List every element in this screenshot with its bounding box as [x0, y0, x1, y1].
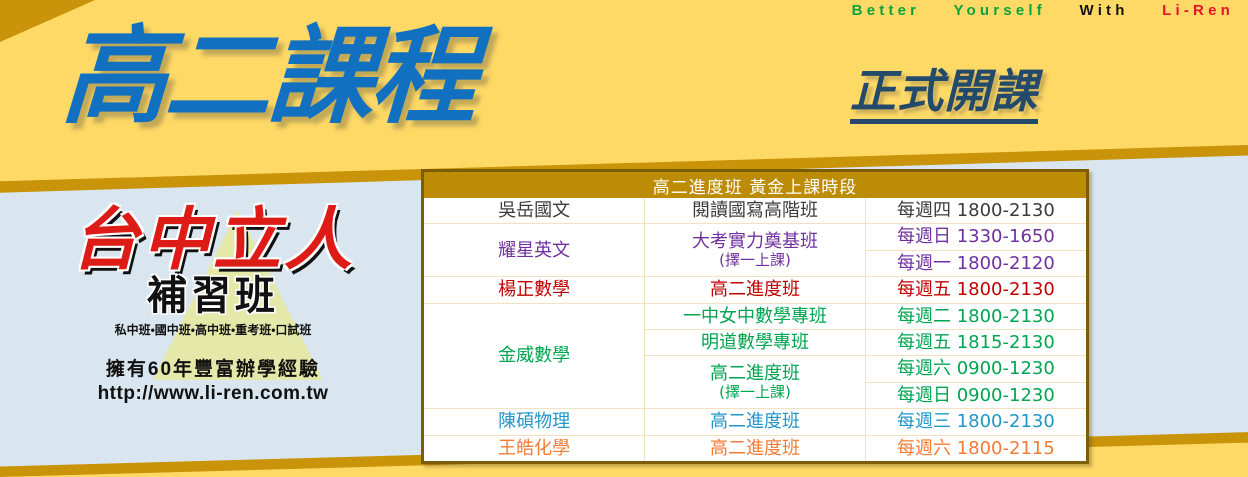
- cell-time: 每週日 1330-1650: [865, 224, 1086, 250]
- cell-teacher: 耀星英文: [424, 224, 645, 277]
- table-row: 陳碩物理高二進度班每週三 1800-2130: [424, 409, 1086, 435]
- cell-time: 每週日 0900-1230: [865, 382, 1086, 408]
- cell-time: 每週三 1800-2130: [865, 409, 1086, 435]
- table-header-row: 高二進度班 黃金上課時段: [424, 172, 1086, 198]
- logo-website-url: http://www.li-ren.com.tw: [38, 383, 388, 405]
- logo-experience: 擁有60年豐富辦學經驗: [38, 354, 388, 381]
- cell-teacher: 金威數學: [424, 303, 645, 409]
- tagline-word-liren: Li-Ren: [1162, 2, 1234, 19]
- cell-time: 每週二 1800-2130: [865, 303, 1086, 329]
- cell-course: 高二進度班: [645, 277, 866, 303]
- course-note: (擇一上課): [647, 252, 863, 270]
- cell-teacher: 陳碩物理: [424, 409, 645, 435]
- cell-time: 每週五 1815-2130: [865, 329, 1086, 355]
- cell-course: 高二進度班: [645, 435, 866, 461]
- cell-teacher: 吳岳國文: [424, 198, 645, 224]
- course-name: 高二進度班: [710, 438, 800, 459]
- course-note: (擇一上課): [647, 384, 863, 402]
- cell-time: 每週一 1800-2120: [865, 250, 1086, 276]
- table-row: 金威數學一中女中數學專班每週二 1800-2130: [424, 303, 1086, 329]
- tagline-word-better: Better: [852, 2, 921, 19]
- cell-time: 每週六 0900-1230: [865, 356, 1086, 382]
- cell-course: 一中女中數學專班: [645, 303, 866, 329]
- course-name: 明道數學專班: [701, 332, 809, 353]
- cell-teacher: 王皓化學: [424, 435, 645, 461]
- cell-time: 每週六 1800-2115: [865, 435, 1086, 461]
- schedule-table-container: 高二進度班 黃金上課時段 吳岳國文閱讀國寫高階班每週四 1800-2130耀星英…: [421, 169, 1089, 464]
- course-name: 大考實力奠基班: [692, 231, 818, 252]
- schedule-table: 高二進度班 黃金上課時段 吳岳國文閱讀國寫高階班每週四 1800-2130耀星英…: [424, 172, 1086, 461]
- logo-class-types: 私中班•國中班•高中班•重考班•口試班: [38, 321, 388, 338]
- cell-course: 高二進度班: [645, 409, 866, 435]
- schedule-table-body: 吳岳國文閱讀國寫高階班每週四 1800-2130耀星英文大考實力奠基班(擇一上課…: [424, 198, 1086, 461]
- cell-teacher: 楊正數學: [424, 277, 645, 303]
- course-name: 高二進度班: [710, 279, 800, 300]
- cell-course: 明道數學專班: [645, 329, 866, 355]
- tagline-word-yourself: Yourself: [953, 2, 1046, 19]
- table-row: 耀星英文大考實力奠基班(擇一上課)每週日 1330-1650: [424, 224, 1086, 250]
- page-title: 高二課程: [59, 14, 478, 139]
- course-name: 一中女中數學專班: [683, 306, 827, 327]
- table-row: 楊正數學高二進度班每週五 1800-2130: [424, 277, 1086, 303]
- cell-course: 閱讀國寫高階班: [645, 198, 866, 224]
- course-name: 高二進度班: [710, 363, 800, 384]
- tagline-word-with: With: [1079, 2, 1128, 19]
- cell-course: 高二進度班(擇一上課): [645, 356, 866, 409]
- logo-subtitle: 補習班: [38, 276, 388, 316]
- schedule-table-header: 高二進度班 黃金上課時段: [424, 172, 1086, 198]
- status-badge-opening: 正式開課: [850, 66, 1038, 124]
- table-row: 王皓化學高二進度班每週六 1800-2115: [424, 435, 1086, 461]
- logo: 台中立人 補習班 私中班•國中班•高中班•重考班•口試班 擁有60年豐富辦學經驗…: [38, 206, 388, 405]
- cell-time: 每週四 1800-2130: [865, 198, 1086, 224]
- logo-name: 台中立人: [38, 206, 388, 274]
- table-row: 吳岳國文閱讀國寫高階班每週四 1800-2130: [424, 198, 1086, 224]
- promo-banner: Better Yourself With Li-Ren 高二課程 正式開課 台中…: [0, 0, 1248, 477]
- cell-course: 大考實力奠基班(擇一上課): [645, 224, 866, 277]
- cell-time: 每週五 1800-2130: [865, 277, 1086, 303]
- course-name: 閱讀國寫高階班: [692, 200, 818, 221]
- course-name: 高二進度班: [710, 411, 800, 432]
